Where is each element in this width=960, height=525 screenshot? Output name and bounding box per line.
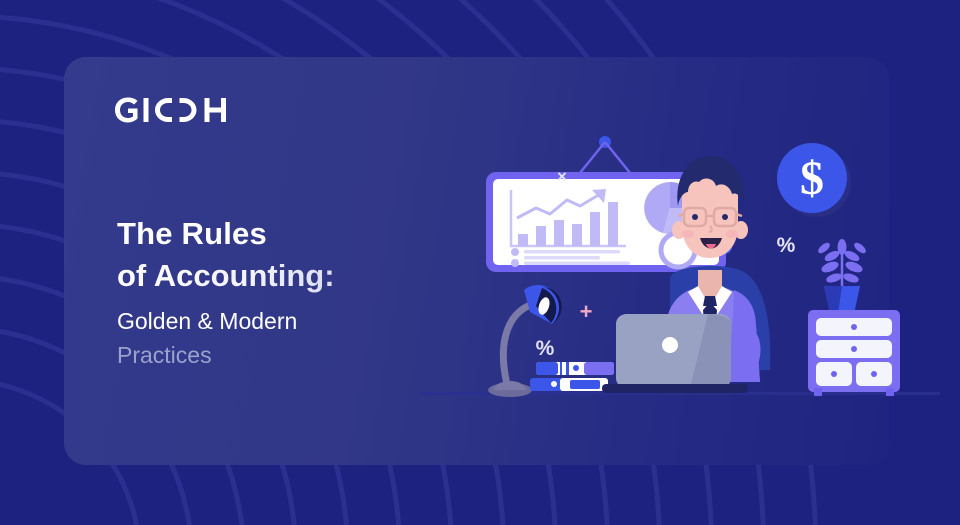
book-top-right bbox=[584, 362, 614, 375]
list-line bbox=[524, 250, 620, 254]
book-top-left bbox=[536, 362, 558, 375]
necktie-knot bbox=[703, 296, 717, 306]
book-divider bbox=[566, 362, 569, 375]
eye-right bbox=[722, 214, 728, 220]
cheek-right bbox=[726, 230, 738, 238]
cabinet-with-plant bbox=[808, 239, 900, 396]
book-line bbox=[570, 380, 600, 389]
percent-symbol-right: % bbox=[777, 234, 796, 257]
cabinet-knob bbox=[831, 371, 837, 377]
laptop-logo-dot bbox=[662, 337, 678, 353]
headline-line-1: The Rules bbox=[117, 214, 447, 254]
bar bbox=[554, 220, 564, 246]
eye-left bbox=[692, 214, 698, 220]
accountant-at-desk-illustration: $ bbox=[420, 130, 940, 410]
list-line bbox=[524, 262, 630, 266]
book-stack bbox=[530, 362, 614, 391]
book-dot bbox=[551, 381, 557, 387]
book-dot bbox=[573, 365, 579, 371]
headline-block: The Rules of Accounting: Golden & Modern… bbox=[117, 214, 447, 372]
subheadline-line-1: Golden & Modern bbox=[117, 304, 447, 338]
cabinet-knob bbox=[851, 324, 857, 330]
cabinet-leg-right bbox=[886, 388, 894, 396]
bar bbox=[608, 202, 618, 246]
cabinet-knob bbox=[871, 371, 877, 377]
lamp-head bbox=[524, 285, 562, 324]
plus-symbol: + bbox=[580, 299, 593, 324]
bar bbox=[572, 224, 582, 246]
laptop bbox=[602, 314, 748, 393]
book-divider bbox=[560, 362, 562, 375]
list-bullet bbox=[511, 259, 519, 267]
laptop-base bbox=[602, 384, 748, 393]
promo-banner: The Rules of Accounting: Golden & Modern… bbox=[0, 0, 960, 525]
bar bbox=[590, 212, 600, 246]
multiply-symbol: × bbox=[557, 167, 567, 186]
bar bbox=[518, 234, 528, 246]
lamp-arm bbox=[503, 306, 528, 388]
bar bbox=[536, 226, 546, 246]
list-bullet bbox=[511, 248, 519, 256]
cabinet-knob bbox=[851, 346, 857, 352]
cheek-left bbox=[682, 230, 694, 238]
lamp-base-top bbox=[494, 381, 526, 390]
cabinet-leg-left bbox=[814, 388, 822, 396]
subheadline-line-2: Practices bbox=[117, 338, 447, 372]
giddh-logo[interactable] bbox=[113, 93, 233, 127]
headline-line-2: of Accounting: bbox=[117, 254, 447, 298]
potted-plant bbox=[816, 239, 867, 314]
dollar-symbol: $ bbox=[800, 152, 824, 205]
percent-symbol-left: % bbox=[536, 337, 555, 360]
list-line bbox=[524, 256, 600, 260]
